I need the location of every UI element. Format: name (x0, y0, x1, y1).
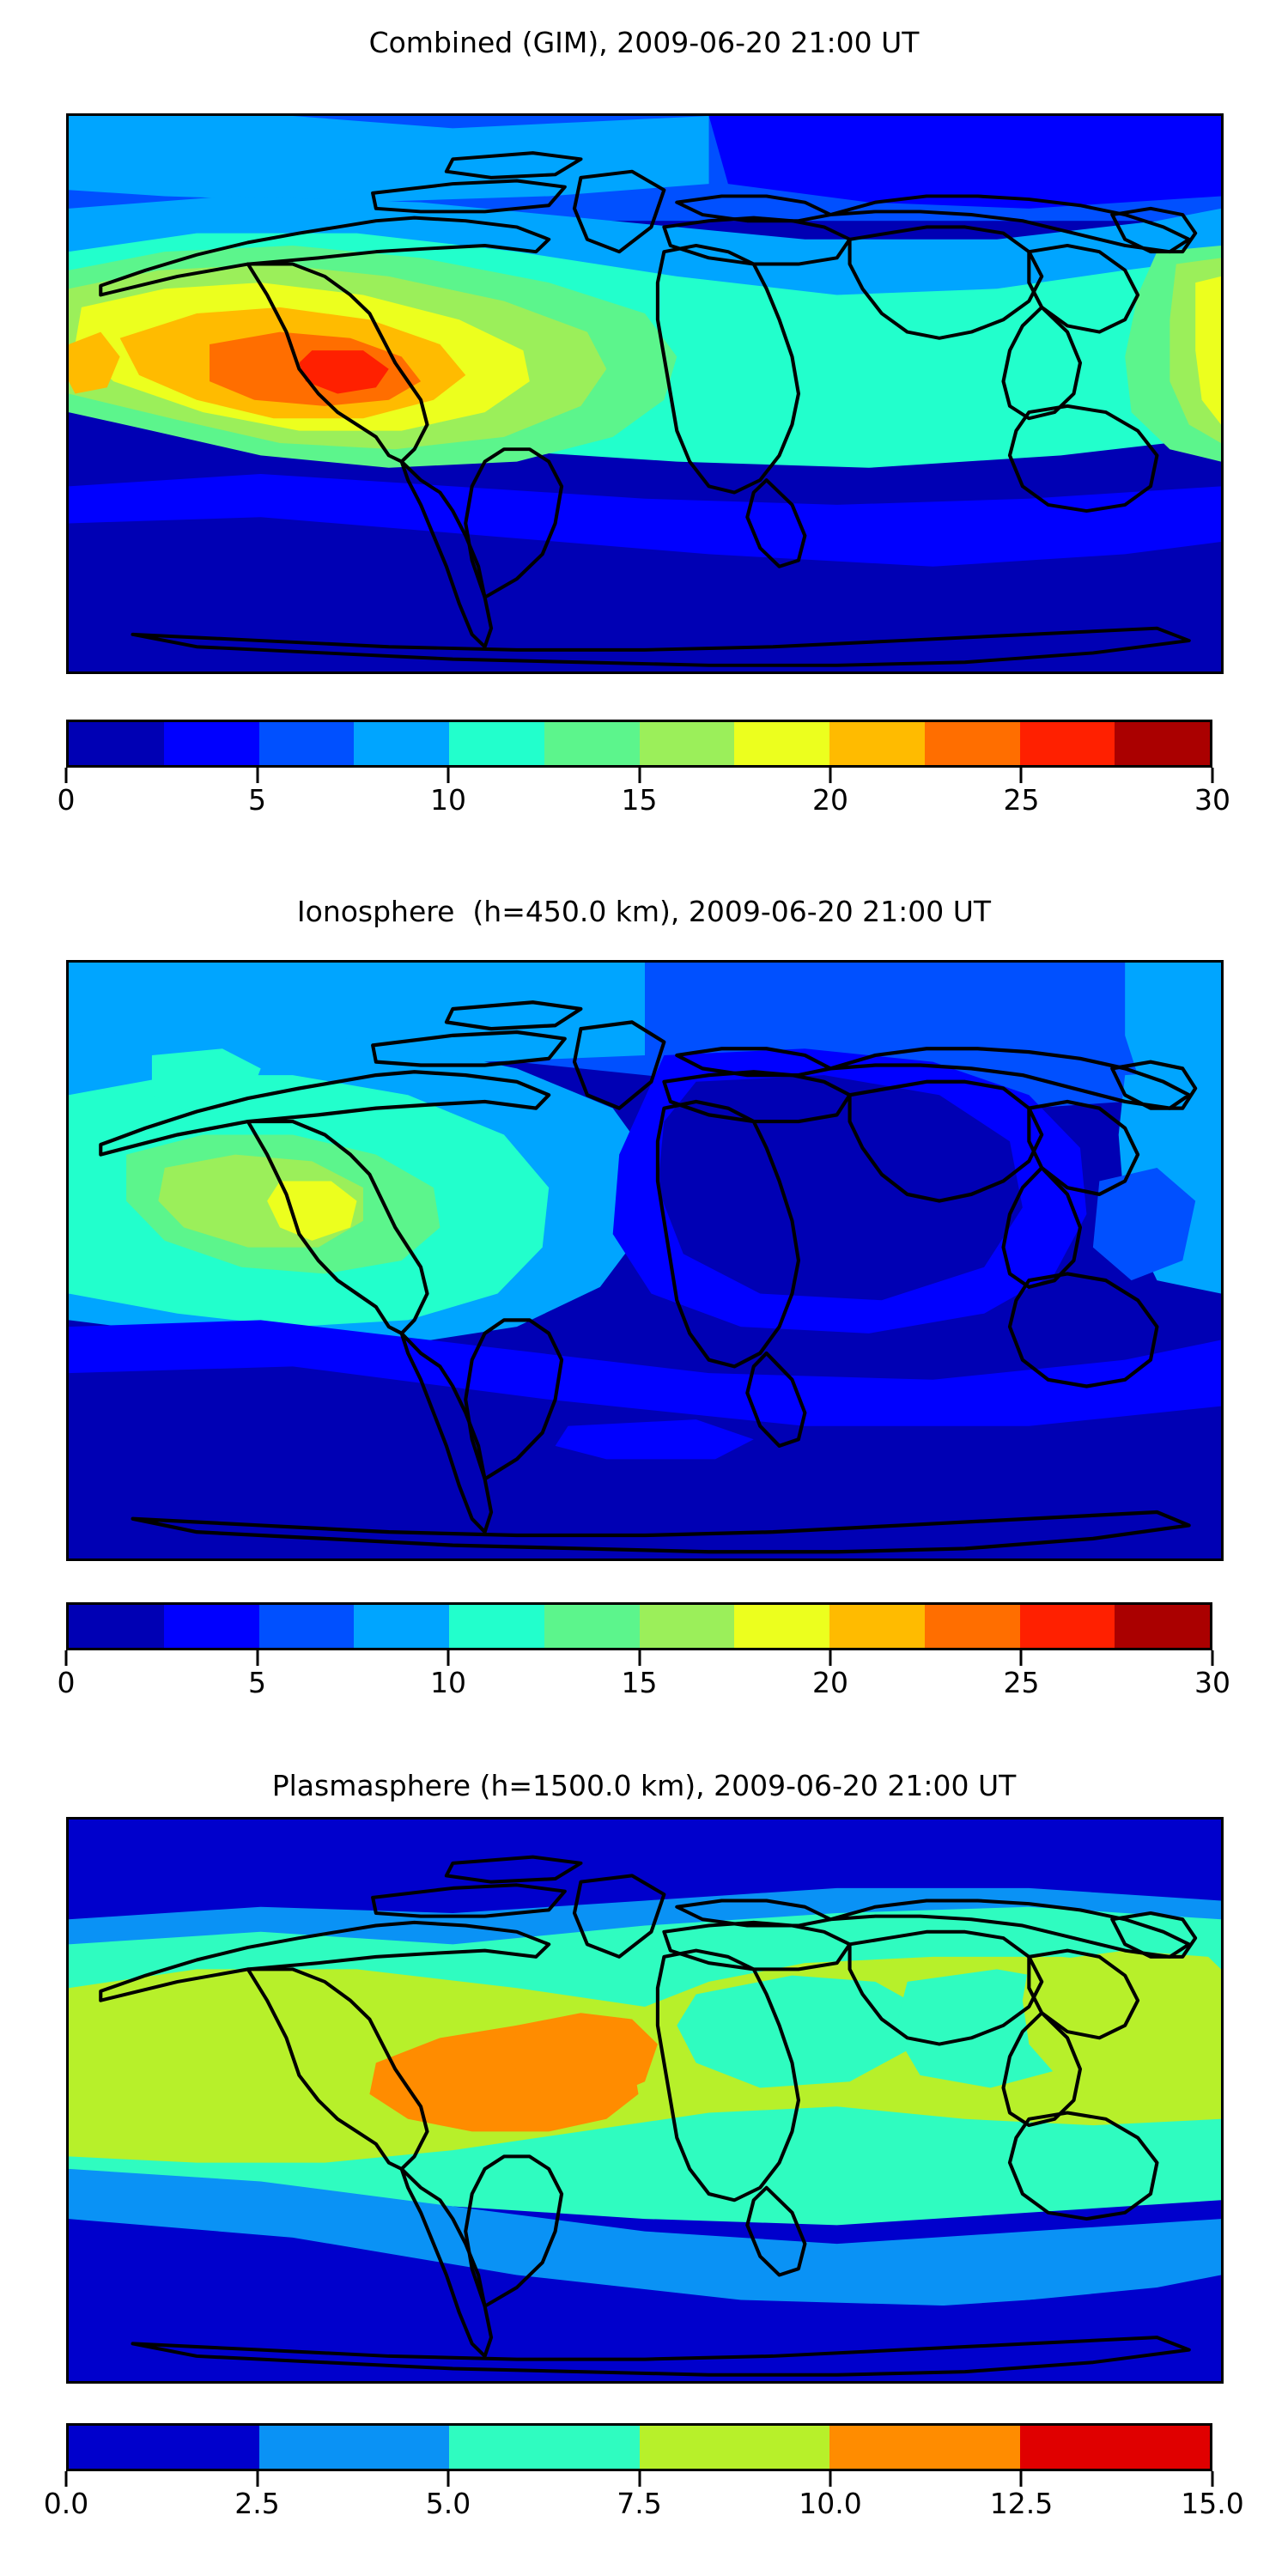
colorbar-band (449, 1605, 544, 1648)
colorbar-labels-combined: 0 5 10 15 20 25 30 (66, 783, 1212, 821)
colorbar-tick-label: 0 (58, 1666, 76, 1699)
colorbar-band (829, 722, 925, 765)
colorbar-band (1020, 1605, 1115, 1648)
colorbar-tick (829, 768, 832, 783)
colorbar-tick (1020, 1650, 1023, 1666)
colorbar-tick-label: 12.5 (990, 2487, 1053, 2520)
colorbar-tick-label: 0 (58, 783, 76, 817)
panel-title-plasmasphere: Plasmasphere (h=1500.0 km), 2009-06-20 2… (0, 1769, 1288, 1802)
colorbar-band (640, 2426, 830, 2469)
colorbar-band (164, 722, 259, 765)
colorbar-band (354, 1605, 449, 1648)
colorbar-bands-plasmasphere (66, 2423, 1212, 2471)
colorbar-band (449, 2426, 640, 2469)
colorbar-band (1020, 2426, 1211, 2469)
colorbar-labels-plasmasphere: 0.0 2.5 5.0 7.5 10.0 12.5 15.0 (66, 2487, 1212, 2524)
colorbar-plasmasphere: 0.0 2.5 5.0 7.5 10.0 12.5 15.0 (66, 2423, 1212, 2524)
colorbar-tick (829, 2471, 832, 2487)
colorbar-tick (65, 768, 68, 783)
colorbar-band (1115, 1605, 1210, 1648)
colorbar-tick-label: 30 (1194, 783, 1230, 817)
colorbar-tick-label: 25 (1003, 1666, 1039, 1699)
colorbar-tick (638, 1650, 641, 1666)
map-canvas-plasmasphere (69, 1820, 1221, 2381)
colorbar-band (829, 1605, 925, 1648)
colorbar-tick (447, 1650, 449, 1666)
colorbar-tick (65, 1650, 68, 1666)
colorbar-band (640, 722, 735, 765)
map-axes-combined (66, 113, 1224, 674)
colorbar-tick-label: 15.0 (1181, 2487, 1243, 2520)
colorbar-tick (638, 2471, 641, 2487)
colorbar-band (354, 722, 449, 765)
colorbar-band (544, 1605, 640, 1648)
colorbar-band (164, 1605, 259, 1648)
colorbar-tick-label: 30 (1194, 1666, 1230, 1699)
colorbar-ticks-ionosphere (66, 1650, 1212, 1666)
colorbar-tick (1212, 2471, 1214, 2487)
colorbar-ticks-plasmasphere (66, 2471, 1212, 2487)
colorbar-combined: 0 5 10 15 20 25 30 (66, 720, 1212, 821)
colorbar-tick-label: 5.0 (426, 2487, 471, 2520)
colorbar-tick (447, 768, 449, 783)
colorbar-tick (829, 1650, 832, 1666)
colorbar-tick (447, 2471, 449, 2487)
colorbar-tick (1020, 2471, 1023, 2487)
colorbar-tick-label: 10 (430, 783, 466, 817)
colorbar-band (734, 1605, 829, 1648)
colorbar-band (925, 1605, 1020, 1648)
colorbar-tick (256, 768, 258, 783)
panel-title-combined: Combined (GIM), 2009-06-20 21:00 UT (0, 26, 1288, 59)
colorbar-band (69, 722, 164, 765)
colorbar-band (69, 1605, 164, 1648)
colorbar-band (829, 2426, 1020, 2469)
map-canvas-ionosphere (69, 963, 1221, 1558)
colorbar-ticks-combined (66, 768, 1212, 783)
colorbar-tick (1212, 768, 1214, 783)
colorbar-bands-combined (66, 720, 1212, 768)
colorbar-labels-ionosphere: 0 5 10 15 20 25 30 (66, 1666, 1212, 1704)
colorbar-tick (638, 768, 641, 783)
colorbar-ionosphere: 0 5 10 15 20 25 30 (66, 1602, 1212, 1704)
colorbar-band (734, 722, 829, 765)
panel-plasmasphere: Plasmasphere (h=1500.0 km), 2009-06-20 2… (0, 1735, 1288, 2576)
colorbar-tick-label: 0.0 (44, 2487, 88, 2520)
colorbar-tick-label: 5 (248, 783, 266, 817)
colorbar-band (449, 722, 544, 765)
map-axes-plasmasphere (66, 1817, 1224, 2384)
colorbar-tick-label: 15 (622, 1666, 658, 1699)
colorbar-band (259, 722, 355, 765)
panel-ionosphere: Ionosphere (h=450.0 km), 2009-06-20 21:0… (0, 859, 1288, 1735)
colorbar-band (1115, 722, 1210, 765)
colorbar-band (640, 1605, 735, 1648)
colorbar-tick-label: 5 (248, 1666, 266, 1699)
colorbar-tick-label: 10 (430, 1666, 466, 1699)
colorbar-tick (1020, 768, 1023, 783)
panel-title-ionosphere: Ionosphere (h=450.0 km), 2009-06-20 21:0… (0, 895, 1288, 928)
colorbar-tick (1212, 1650, 1214, 1666)
colorbar-band (259, 1605, 355, 1648)
map-axes-ionosphere (66, 960, 1224, 1561)
colorbar-band (259, 2426, 450, 2469)
panel-combined-gim: Combined (GIM), 2009-06-20 21:00 UT (0, 0, 1288, 859)
colorbar-tick-label: 2.5 (234, 2487, 279, 2520)
colorbar-tick (65, 2471, 68, 2487)
colorbar-tick-label: 15 (622, 783, 658, 817)
colorbar-band (1020, 722, 1115, 765)
colorbar-tick (256, 1650, 258, 1666)
colorbar-tick-label: 25 (1003, 783, 1039, 817)
tec-figure: Combined (GIM), 2009-06-20 21:00 UT (0, 0, 1288, 2576)
colorbar-bands-ionosphere (66, 1602, 1212, 1650)
colorbar-band (69, 2426, 259, 2469)
colorbar-tick (256, 2471, 258, 2487)
map-canvas-combined (69, 116, 1221, 671)
colorbar-tick-label: 20 (812, 1666, 848, 1699)
colorbar-band (925, 722, 1020, 765)
colorbar-tick-label: 10.0 (799, 2487, 861, 2520)
colorbar-band (544, 722, 640, 765)
colorbar-tick-label: 7.5 (617, 2487, 661, 2520)
colorbar-tick-label: 20 (812, 783, 848, 817)
